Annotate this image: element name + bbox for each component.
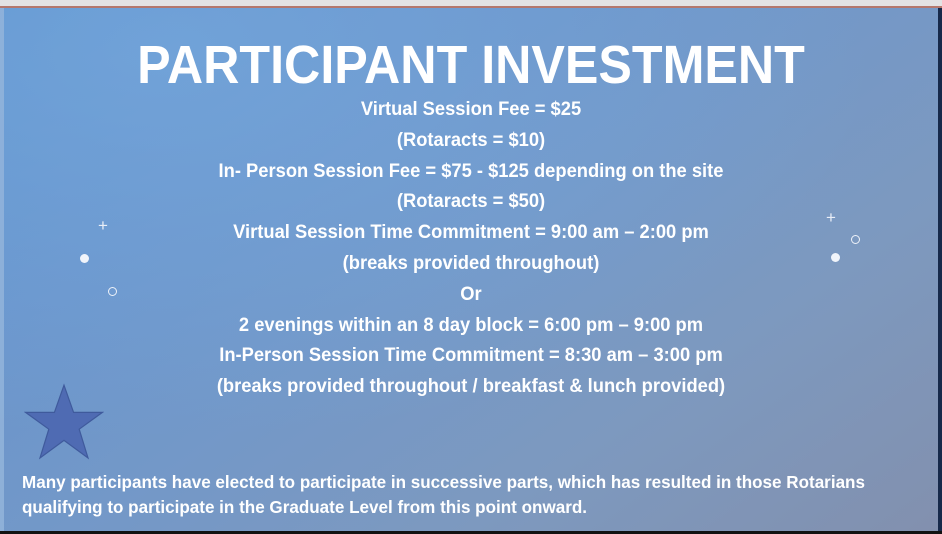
body-line: (Rotaracts = $50) (16, 187, 925, 218)
body-line: Virtual Session Time Commitment = 9:00 a… (16, 218, 925, 249)
body-line: (breaks provided throughout) (16, 249, 925, 280)
body-line: (Rotaracts = $10) (16, 126, 925, 157)
body-line: In-Person Session Time Commitment = 8:30… (16, 341, 925, 372)
body-line: Or (16, 280, 925, 311)
page-title: PARTICIPANT INVESTMENT (33, 38, 909, 93)
body-line: 2 evenings within an 8 day block = 6:00 … (16, 311, 925, 342)
body-line: In- Person Session Fee = $75 - $125 depe… (16, 157, 925, 188)
circle-outline-icon (108, 287, 117, 296)
presentation-slide: PARTICIPANT INVESTMENT Virtual Session F… (0, 8, 942, 531)
right-edge-rule (938, 8, 942, 531)
dot-icon (831, 253, 840, 262)
circle-outline-icon (851, 235, 860, 244)
plus-icon: + (826, 209, 836, 226)
body-line: Virtual Session Fee = $25 (16, 95, 925, 126)
star-icon (24, 382, 104, 462)
dot-icon (80, 254, 89, 263)
slide-body: Virtual Session Fee = $25 (Rotaracts = $… (0, 95, 942, 403)
slide-screenshot: PARTICIPANT INVESTMENT Virtual Session F… (0, 0, 942, 534)
footnote-text: Many participants have elected to partic… (22, 470, 900, 520)
body-line: (breaks provided throughout / breakfast … (16, 372, 925, 403)
left-edge-rule (0, 8, 4, 531)
plus-icon: + (98, 217, 108, 234)
